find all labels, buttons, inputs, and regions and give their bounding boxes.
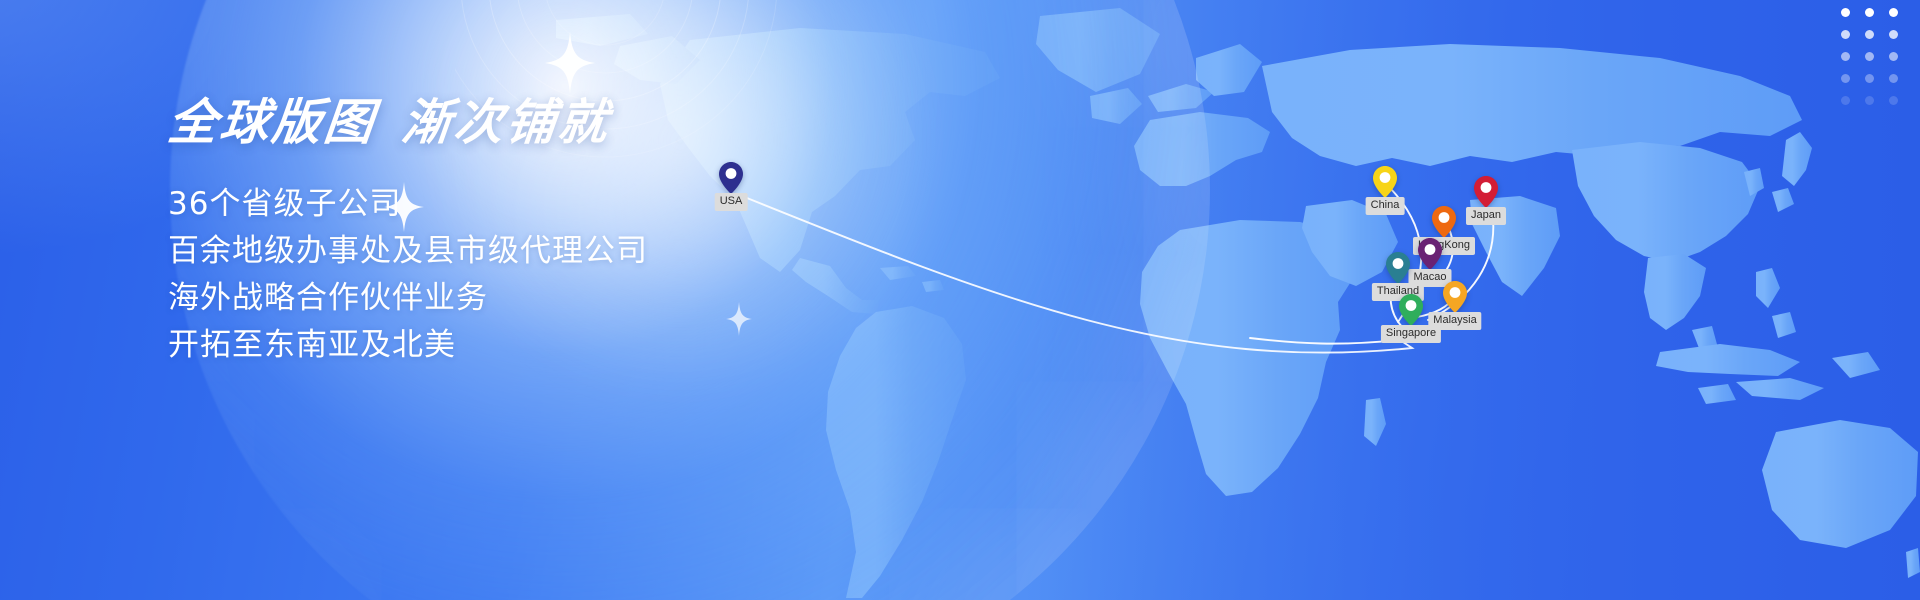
map-marker-malaysia[interactable]: Malaysia	[1443, 281, 1467, 313]
pin-icon[interactable]	[1474, 176, 1498, 208]
route-usa-singapore	[742, 196, 1412, 353]
marker-label: China	[1366, 197, 1405, 215]
marker-label: Japan	[1466, 207, 1506, 225]
pin-icon[interactable]	[719, 162, 743, 194]
map-marker-thailand[interactable]: Thailand	[1386, 252, 1410, 284]
global-map-banner: 全球版图渐次铺就 36个省级子公司 百余地级办事处及县市级代理公司 海外战略合作…	[0, 0, 1920, 600]
pin-icon[interactable]	[1418, 238, 1442, 270]
map-marker-china[interactable]: China	[1373, 166, 1397, 198]
marker-label: USA	[715, 193, 748, 211]
marker-label: Singapore	[1381, 325, 1441, 343]
pin-icon[interactable]	[1386, 252, 1410, 284]
route-lines	[0, 0, 1920, 600]
map-marker-singapore[interactable]: Singapore	[1399, 294, 1423, 326]
pin-icon[interactable]	[1399, 294, 1423, 326]
map-marker-usa[interactable]: USA	[719, 162, 743, 194]
pin-icon[interactable]	[1432, 206, 1456, 238]
map-marker-macao[interactable]: Macao	[1418, 238, 1442, 270]
map-marker-hongkong[interactable]: HongKong	[1432, 206, 1456, 238]
pin-icon[interactable]	[1443, 281, 1467, 313]
map-marker-japan[interactable]: Japan	[1474, 176, 1498, 208]
route-usa-singapore-tail	[1250, 338, 1400, 344]
pin-icon[interactable]	[1373, 166, 1397, 198]
